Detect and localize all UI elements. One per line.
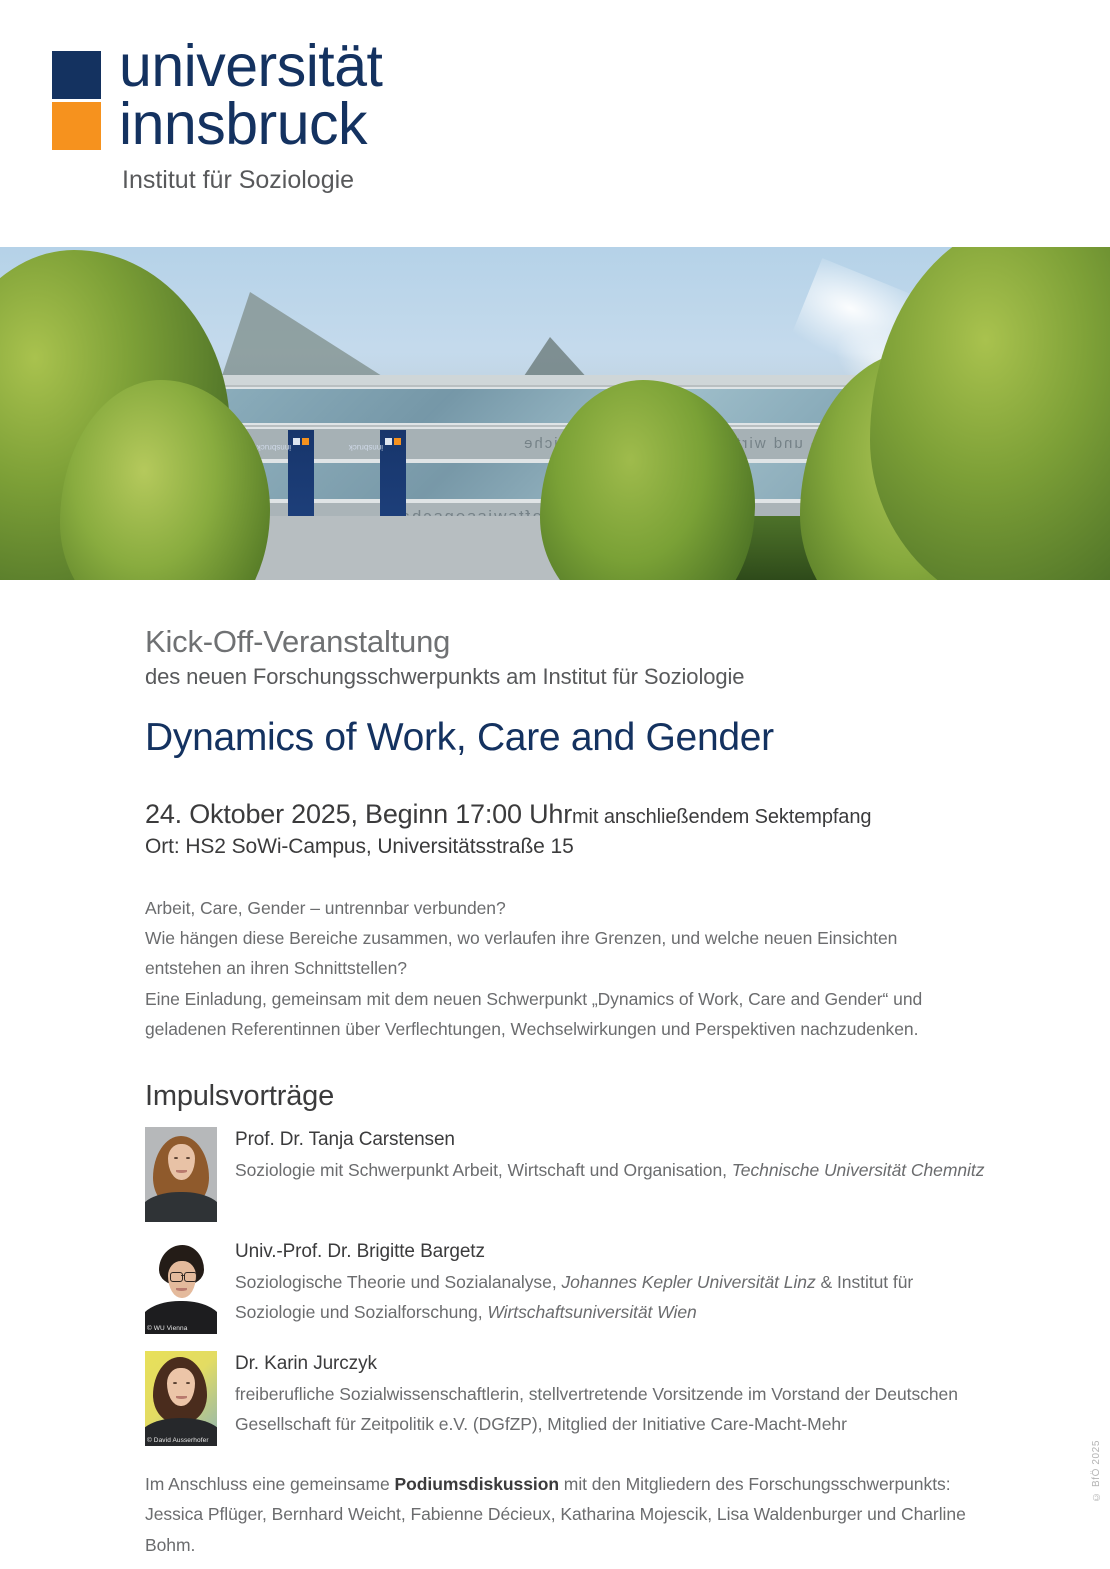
speaker-affiliation: Soziologische Theorie und Sozialanalyse,…	[235, 1267, 990, 1327]
speaker-affiliation-plain: Soziologische Theorie und Sozialanalyse,	[235, 1272, 561, 1292]
lead-line: Wie hängen diese Bereiche zusammen, wo v…	[145, 923, 950, 953]
logo-squares-icon	[52, 51, 101, 150]
event-date: 24. Oktober 2025, Beginn 17:00 Uhr	[145, 799, 572, 829]
logo-wordmark: universität innsbruck	[119, 37, 382, 153]
banner-label-left: innsbruck	[257, 443, 291, 452]
lead-paragraph: Arbeit, Care, Gender – untrennbar verbun…	[145, 893, 950, 1044]
page-title: Dynamics of Work, Care and Gender	[145, 716, 990, 760]
event-datetime: 24. Oktober 2025, Beginn 17:00 Uhrmit an…	[145, 799, 990, 830]
portrait-glasses-left	[170, 1272, 183, 1282]
building-roofline	[150, 375, 880, 385]
speaker-text: Dr. Karin Jurczyk freiberufliche Sozialw…	[235, 1351, 990, 1439]
speaker-affiliation-institution: Johannes Kepler Universität Linz	[561, 1272, 815, 1292]
speaker-portrait-jurczyk: © David Ausserhofer	[145, 1351, 217, 1446]
speaker-name: Univ.-Prof. Dr. Brigitte Bargetz	[235, 1241, 990, 1263]
outro-bold: Podiumsdiskussion	[395, 1474, 559, 1494]
section-heading-talks: Impulsvorträge	[145, 1080, 990, 1113]
speaker-affiliation-institution-2: Wirtschaftsuniversität Wien	[487, 1302, 696, 1322]
poster-body: Kick-Off-Veranstaltung des neuen Forschu…	[0, 580, 1110, 1560]
building-glass-band-1	[150, 387, 880, 425]
speaker-text: Prof. Dr. Tanja Carstensen Soziologie mi…	[235, 1127, 990, 1185]
speaker-portrait-carstensen	[145, 1127, 217, 1222]
panel-discussion-note: Im Anschluss eine gemeinsame Podiumsdisk…	[145, 1469, 990, 1560]
lead-line: Arbeit, Care, Gender – untrennbar verbun…	[145, 893, 950, 923]
kickoff-heading: Kick-Off-Veranstaltung	[145, 625, 990, 660]
hero-photo: sozial- und wirtschaftswissenschaftliche…	[0, 247, 1110, 580]
speaker-item: Prof. Dr. Tanja Carstensen Soziologie mi…	[145, 1127, 990, 1222]
speaker-affiliation-plain: freiberufliche Sozialwissenschaftlerin, …	[235, 1384, 958, 1434]
event-date-note: mit anschließendem Sektempfang	[572, 806, 871, 828]
logo-square-navy	[52, 51, 101, 99]
speaker-affiliation-institution: Technische Universität Chemnitz	[732, 1160, 985, 1180]
speaker-portrait-bargetz: © WU Vienna	[145, 1239, 217, 1334]
outro-pre: Im Anschluss eine gemeinsame	[145, 1474, 395, 1494]
speaker-item: © WU Vienna Univ.-Prof. Dr. Brigitte Bar…	[145, 1239, 990, 1334]
portrait-body	[145, 1192, 217, 1222]
speaker-affiliation: freiberufliche Sozialwissenschaftlerin, …	[235, 1379, 990, 1439]
logo-line-university: universität	[119, 33, 382, 99]
speaker-list: Prof. Dr. Tanja Carstensen Soziologie mi…	[145, 1127, 990, 1446]
logo-line-innsbruck: innsbruck	[119, 95, 382, 153]
speaker-affiliation: Soziologie mit Schwerpunkt Arbeit, Wirts…	[235, 1155, 990, 1185]
logo-square-orange	[52, 102, 101, 150]
banner-square-orange-2	[394, 438, 401, 445]
copyright-notice: © BfÖ 2025	[1091, 1440, 1102, 1502]
lead-line: Eine Einladung, gemeinsam mit dem neuen …	[145, 984, 950, 1014]
speaker-item: © David Ausserhofer Dr. Karin Jurczyk fr…	[145, 1351, 990, 1446]
poster-header: universität innsbruck Institut für Sozio…	[0, 0, 1110, 247]
banner-label-right: innsbruck	[349, 443, 383, 452]
speaker-text: Univ.-Prof. Dr. Brigitte Bargetz Soziolo…	[235, 1239, 990, 1327]
event-venue: Ort: HS2 SoWi-Campus, Universitätsstraße…	[145, 835, 990, 859]
banner-square-white-2	[385, 438, 392, 445]
speaker-name: Dr. Karin Jurczyk	[235, 1353, 990, 1375]
institute-name: Institut für Soziologie	[122, 166, 354, 195]
banner-square-white	[293, 438, 300, 445]
banner-square-orange	[302, 438, 309, 445]
university-logo: universität innsbruck Institut für Sozio…	[52, 48, 452, 198]
portrait-credit: © David Ausserhofer	[147, 1437, 209, 1444]
portrait-glasses-bridge	[181, 1275, 184, 1276]
speaker-affiliation-plain: Soziologie mit Schwerpunkt Arbeit, Wirts…	[235, 1160, 732, 1180]
lead-line: geladenen Referentinnen über Verflechtun…	[145, 1014, 950, 1044]
portrait-credit: © WU Vienna	[147, 1325, 187, 1332]
kickoff-subheading: des neuen Forschungsschwerpunkts am Inst…	[145, 664, 990, 690]
lead-line: entstehen an ihren Schnittstellen?	[145, 953, 950, 983]
portrait-glasses-right	[184, 1272, 197, 1282]
speaker-name: Prof. Dr. Tanja Carstensen	[235, 1129, 990, 1151]
